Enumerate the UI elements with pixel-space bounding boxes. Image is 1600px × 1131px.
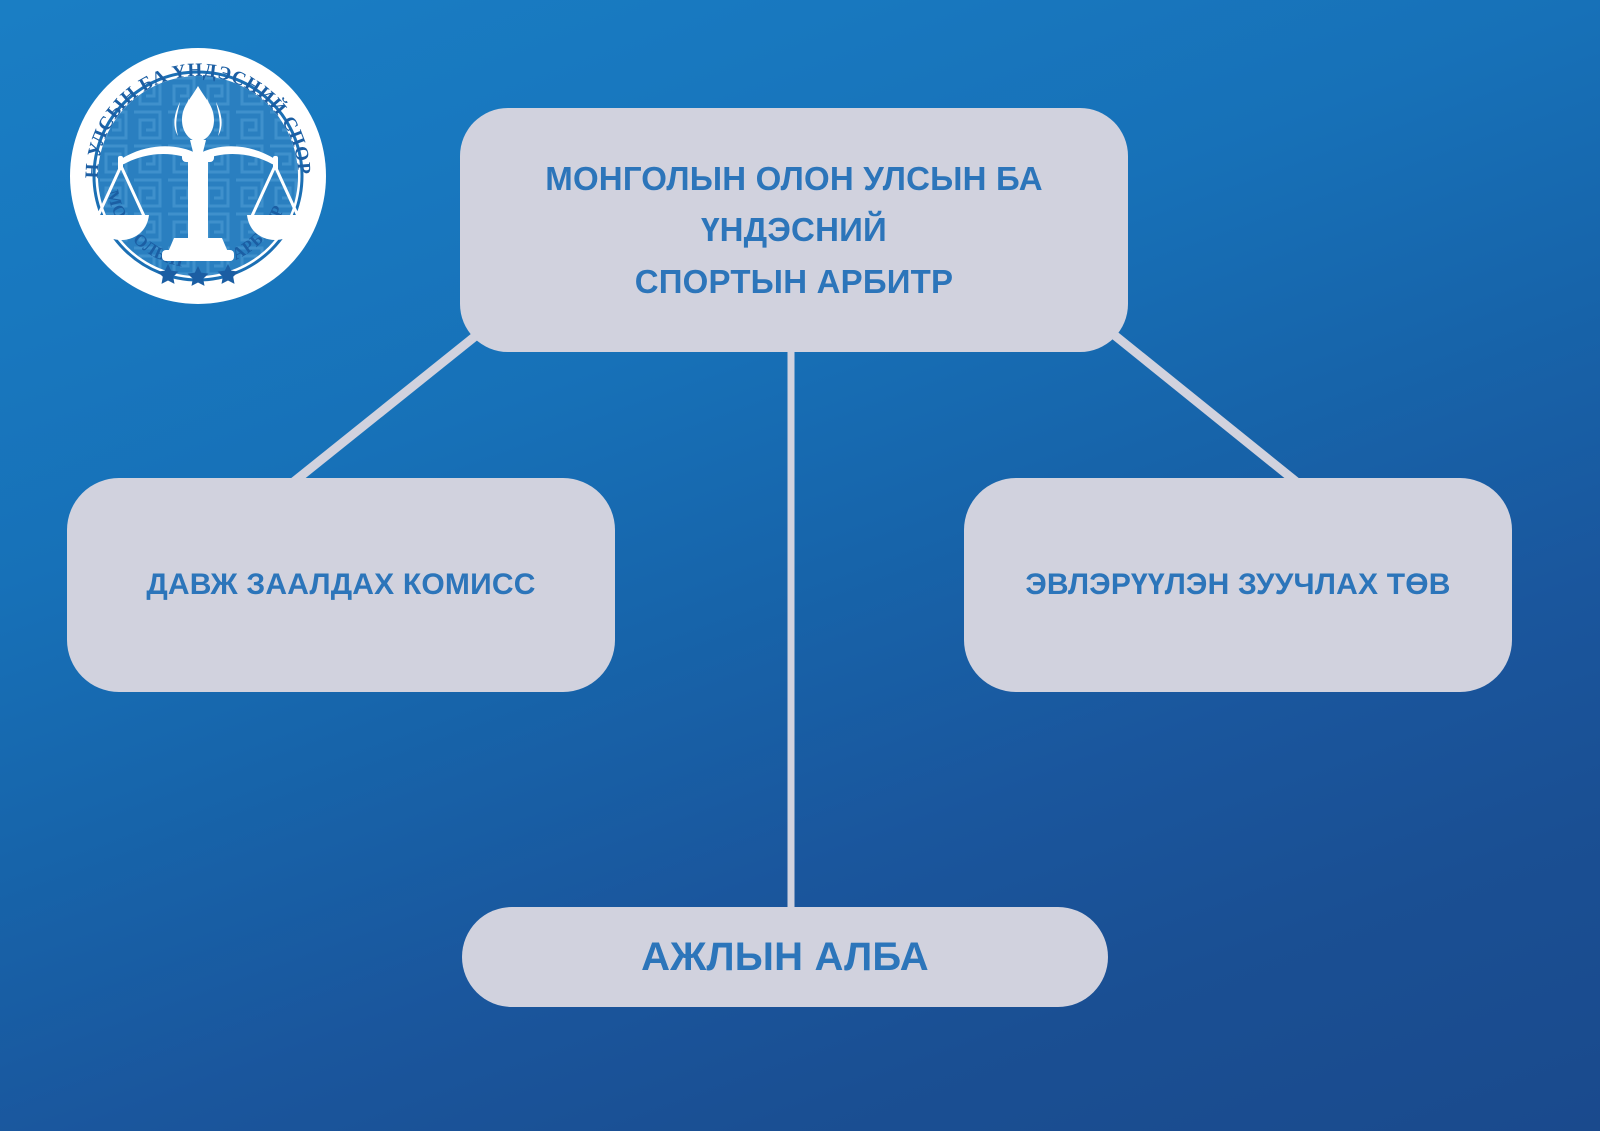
org-node-appeal-commission-label: ДАВЖ ЗААЛДАХ КОМИСС [146,562,535,609]
organization-emblem-logo: ОЛОН УЛСЫН БА ҮНДЭСНИЙ СПОРТЫН МОНГОЛЫН … [62,40,334,312]
org-node-appeal-commission[interactable]: ДАВЖ ЗААЛДАХ КОМИСС [67,478,615,692]
org-node-root[interactable]: МОНГОЛЫН ОЛОН УЛСЫН БА ҮНДЭСНИЙ СПОРТЫН … [460,108,1128,352]
org-node-root-label-line-1: МОНГОЛЫН ОЛОН УЛСЫН БА ҮНДЭСНИЙ [494,153,1094,255]
org-node-working-office[interactable]: АЖЛЫН АЛБА [462,907,1108,1007]
org-node-working-office-label: АЖЛЫН АЛБА [641,926,929,988]
org-node-root-label: МОНГОЛЫН ОЛОН УЛСЫН БА ҮНДЭСНИЙ СПОРТЫН … [494,153,1094,306]
connector-root-to-appeal [291,334,478,484]
org-chart-canvas: ОЛОН УЛСЫН БА ҮНДЭСНИЙ СПОРТЫН МОНГОЛЫН … [0,0,1600,1131]
org-node-mediation-center-label: ЭВЛЭРҮҮЛЭН ЗУУЧЛАХ ТӨВ [1025,562,1450,609]
org-node-root-label-line-2: СПОРТЫН АРБИТР [494,256,1094,307]
org-node-mediation-center[interactable]: ЭВЛЭРҮҮЛЭН ЗУУЧЛАХ ТӨВ [964,478,1512,692]
connector-root-to-mediation [1113,334,1299,484]
